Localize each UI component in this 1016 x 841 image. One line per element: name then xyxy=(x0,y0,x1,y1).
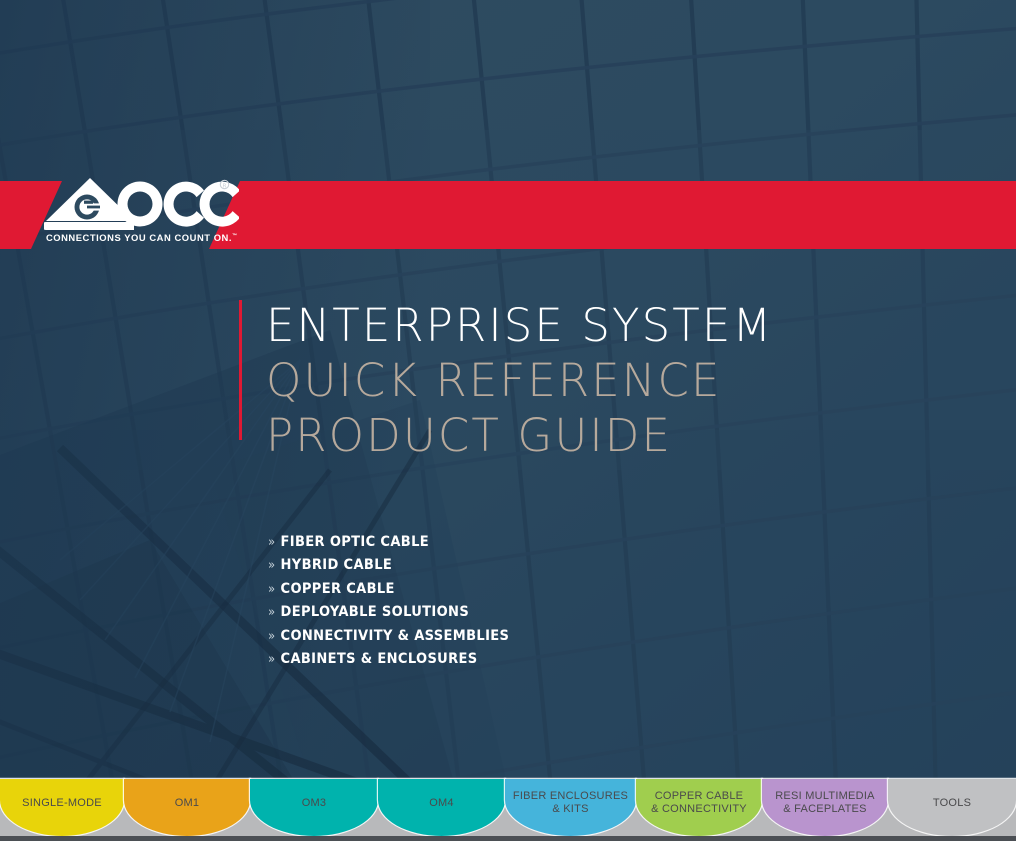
section-tab-strip: SINGLE-MODE OM1 OM3 OM4 FIBER ENCLOSURES… xyxy=(0,779,1016,841)
tab-om1[interactable]: OM1 xyxy=(124,779,250,836)
headline-accent-rule xyxy=(239,300,242,440)
list-item: » FIBER OPTIC CABLE xyxy=(268,531,509,554)
tab-resi-multimedia-and-faceplates[interactable]: RESI MULTIMEDIA & FACEPLATES xyxy=(762,779,888,836)
tab-label: OM3 xyxy=(298,797,331,819)
tab-copper-cable-and-connectivity[interactable]: COPPER CABLE & CONNECTIVITY xyxy=(636,779,762,836)
tab-tools[interactable]: TOOLS xyxy=(888,779,1016,836)
section-tabs: SINGLE-MODE OM1 OM3 OM4 FIBER ENCLOSURES… xyxy=(0,779,1016,836)
tab-strip-baseline xyxy=(0,836,1016,841)
chevron-right-icon: » xyxy=(268,601,276,624)
tab-label: FIBER ENCLOSURES & KITS xyxy=(509,790,632,825)
list-item-label: COPPER CABLE xyxy=(281,578,395,601)
tab-fiber-enclosures-and-kits[interactable]: FIBER ENCLOSURES & KITS xyxy=(505,779,636,836)
list-item-label: FIBER OPTIC CABLE xyxy=(281,531,430,554)
list-item: » CABINETS & ENCLOSURES xyxy=(268,648,509,671)
list-item-label: HYBRID CABLE xyxy=(281,554,393,577)
chevron-right-icon: » xyxy=(268,554,276,577)
occ-logo: R CONNECTIONS YOU CAN COUNT ON.™ xyxy=(44,176,239,250)
title-line-1: ENTERPRISE SYSTEM xyxy=(266,298,773,353)
occ-tagline-text: CONNECTIONS YOU CAN COUNT ON. xyxy=(46,232,232,243)
tab-label: SINGLE-MODE xyxy=(18,797,106,819)
occ-logo-mark: R xyxy=(44,176,239,232)
list-item-label: DEPLOYABLE SOLUTIONS xyxy=(281,601,470,624)
tab-label: RESI MULTIMEDIA & FACEPLATES xyxy=(771,790,879,825)
tab-om4[interactable]: OM4 xyxy=(378,779,505,836)
list-item: » DEPLOYABLE SOLUTIONS xyxy=(268,601,509,624)
chevron-right-icon: » xyxy=(268,625,276,648)
tab-om3[interactable]: OM3 xyxy=(250,779,378,836)
title-line-2: QUICK REFERENCE xyxy=(266,353,773,408)
title-line-3: PRODUCT GUIDE xyxy=(266,408,773,463)
chevron-right-icon: » xyxy=(268,578,276,601)
list-item: » HYBRID CABLE xyxy=(268,554,509,577)
list-item: » COPPER CABLE xyxy=(268,578,509,601)
list-item: » CONNECTIVITY & ASSEMBLIES xyxy=(268,625,509,648)
tab-label: TOOLS xyxy=(929,797,975,819)
trademark-symbol: ™ xyxy=(232,233,237,239)
chevron-right-icon: » xyxy=(268,531,276,554)
chevron-right-icon: » xyxy=(268,648,276,671)
tab-label: OM1 xyxy=(171,797,204,819)
list-item-label: CABINETS & ENCLOSURES xyxy=(281,648,478,671)
tab-label: COPPER CABLE & CONNECTIVITY xyxy=(647,790,751,825)
page-title: ENTERPRISE SYSTEM QUICK REFERENCE PRODUC… xyxy=(266,298,773,463)
product-category-list: » FIBER OPTIC CABLE » HYBRID CABLE » COP… xyxy=(268,531,509,671)
tab-label: OM4 xyxy=(425,797,458,819)
tab-single-mode[interactable]: SINGLE-MODE xyxy=(0,779,124,836)
cover-page: R CONNECTIONS YOU CAN COUNT ON.™ ENTERPR… xyxy=(0,0,1016,841)
svg-text:R: R xyxy=(223,183,227,189)
occ-logo-tagline: CONNECTIONS YOU CAN COUNT ON.™ xyxy=(44,232,239,243)
list-item-label: CONNECTIVITY & ASSEMBLIES xyxy=(281,625,510,648)
